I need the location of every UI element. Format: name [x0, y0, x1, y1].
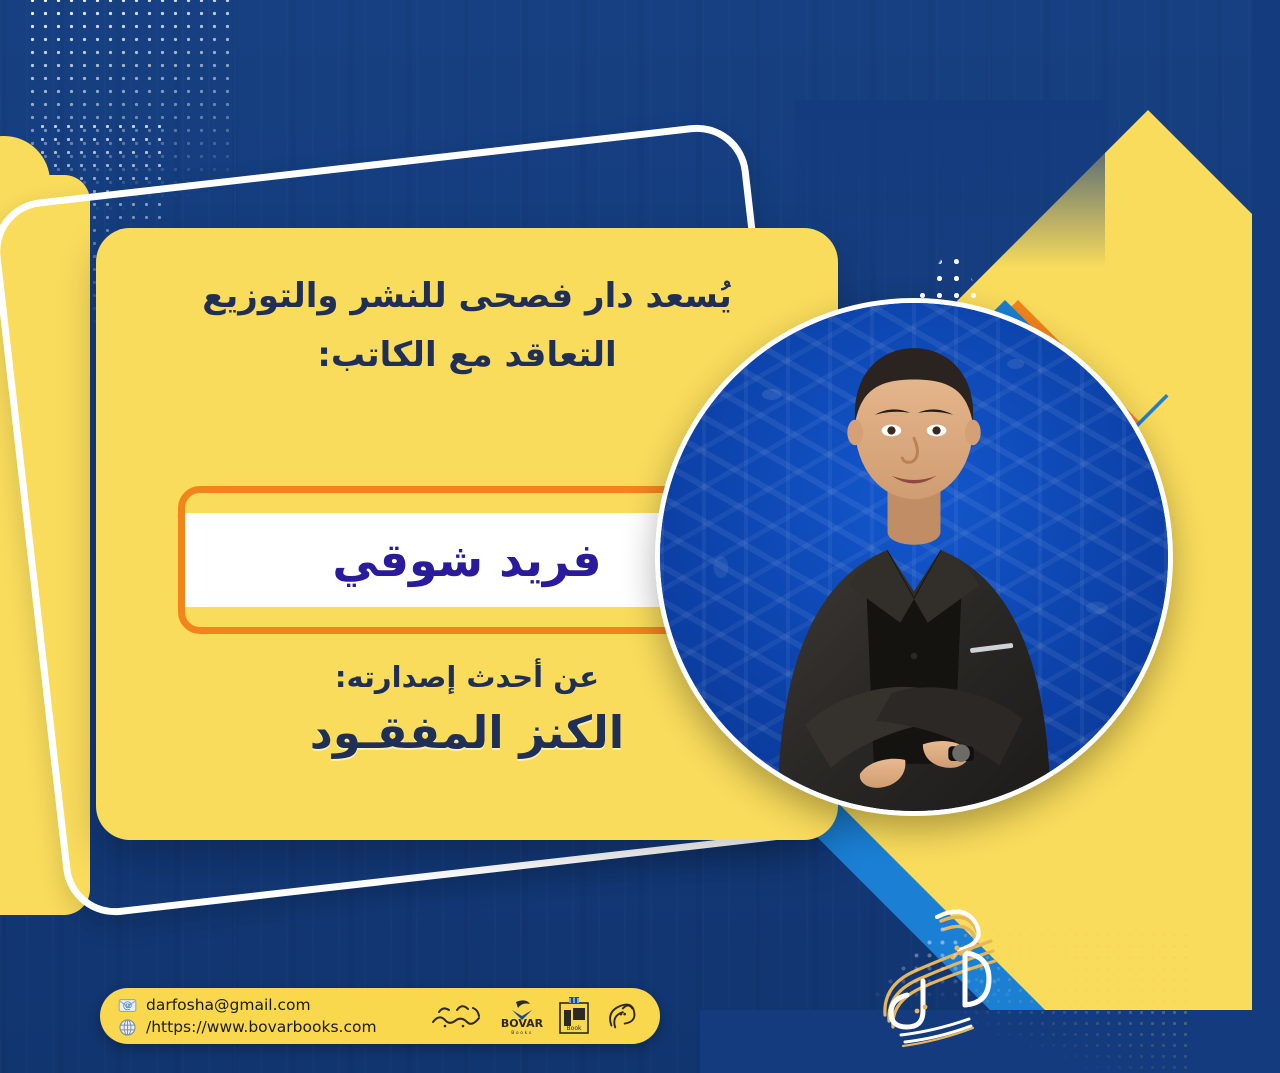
author-portrait: [655, 298, 1173, 816]
partner-logo-al-rawi-al-saleh: [429, 996, 487, 1036]
headline-line-1: يُسعد دار فصحى للنشر والتوزيع: [202, 276, 731, 316]
email-at-icon: @: [118, 996, 137, 1015]
halftone-dots-logo-backdrop: [845, 845, 1035, 1005]
partner-logo-bovar-books: BOVAR Books: [496, 996, 548, 1036]
chevron-right-mask: [1252, 0, 1280, 1073]
website-text: /https://www.bovarbooks.com: [146, 1018, 377, 1036]
website-row[interactable]: /https://www.bovarbooks.com: [118, 1018, 377, 1037]
email-text: darfosha@gmail.com: [146, 996, 311, 1014]
partner-logo-samaa-book: Book: [557, 996, 591, 1036]
poster-canvas: يُسعد دار فصحى للنشر والتوزيع التعاقد مع…: [0, 0, 1280, 1073]
svg-text:@: @: [123, 1000, 133, 1011]
partner-logos: Book BOVAR Books: [429, 996, 638, 1036]
globe-icon: [118, 1018, 137, 1037]
author-name: فريد شوقي: [332, 533, 601, 587]
svg-text:Book: Book: [567, 1025, 582, 1032]
footer-contact-bar: @ darfosha@gmail.com /https://www.bovarb…: [100, 988, 660, 1044]
partner-logo-fosha: [600, 996, 638, 1036]
svg-text:Books: Books: [511, 1030, 533, 1036]
email-row[interactable]: @ darfosha@gmail.com: [118, 996, 377, 1015]
author-photo: [660, 303, 1168, 811]
svg-text:BOVAR: BOVAR: [501, 1017, 544, 1030]
contact-details: @ darfosha@gmail.com /https://www.bovarb…: [118, 996, 377, 1037]
